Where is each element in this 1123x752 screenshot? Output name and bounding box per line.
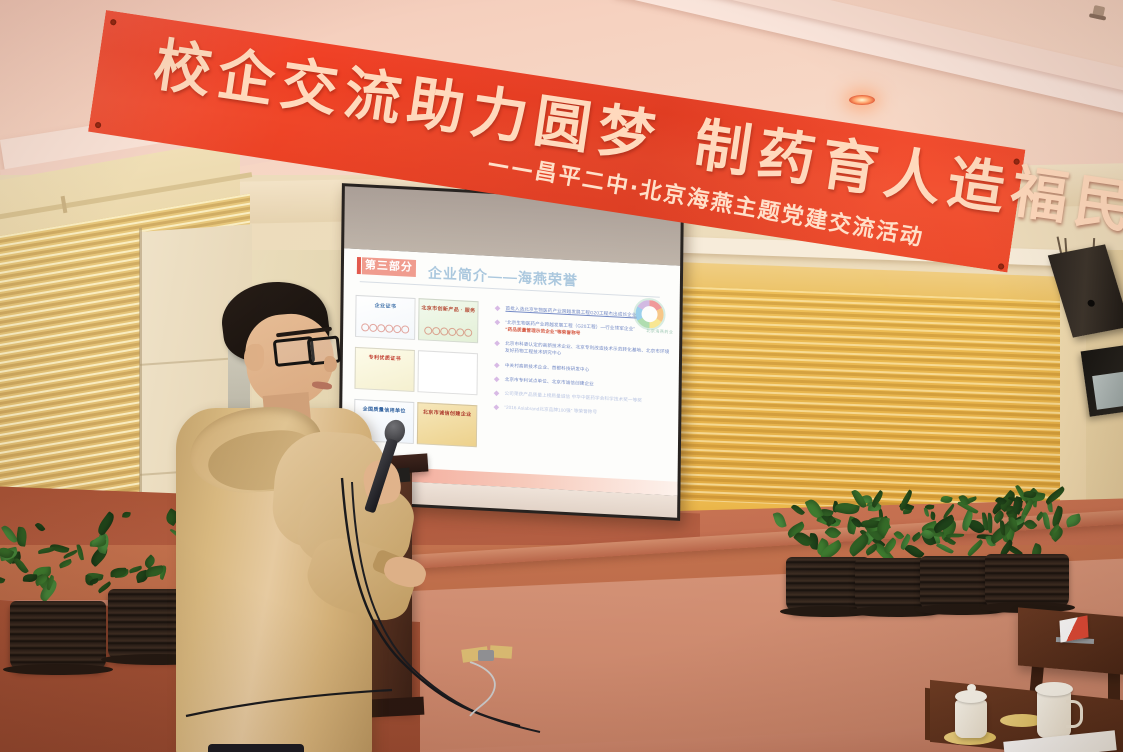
teacup-tall-lid: [1035, 682, 1073, 696]
floor-cables: [0, 0, 1123, 752]
cable-white: [470, 662, 495, 716]
teacup-handle: [1066, 700, 1083, 728]
teacup-lid-knob: [967, 684, 976, 692]
teacup-with-lid: [955, 700, 987, 738]
cable-connector: [478, 650, 494, 661]
conference-presentation-photo: 第三部分 企业简介——海燕荣誉 北京海燕药业 企业证书 北京市创新产品 · 服务: [0, 0, 1123, 752]
cable-left: [186, 690, 392, 716]
cable-secondary: [352, 482, 540, 732]
cable-main: [342, 478, 520, 726]
